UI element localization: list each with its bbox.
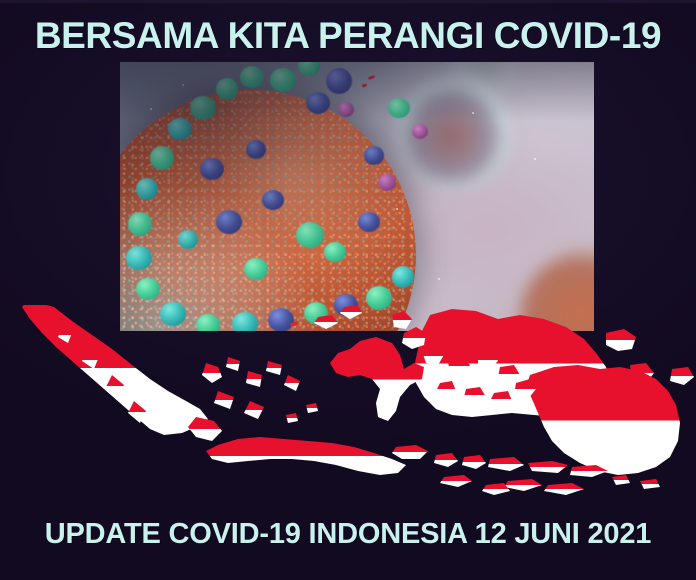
photo-vignette xyxy=(120,62,594,331)
top-edge-divider xyxy=(0,0,696,3)
indonesia-map-svg xyxy=(0,305,696,505)
page-title: BERSAMA KITA PERANGI COVID-19 xyxy=(0,15,696,57)
virus-photo xyxy=(120,62,594,331)
map-landmasses xyxy=(22,305,694,495)
poster-canvas: BERSAMA KITA PERANGI COVID-19 UPDATE COV… xyxy=(0,0,696,580)
indonesia-map xyxy=(0,305,696,505)
poster-footer-caption: UPDATE COVID-19 INDONESIA 12 JUNI 2021 xyxy=(0,518,696,551)
